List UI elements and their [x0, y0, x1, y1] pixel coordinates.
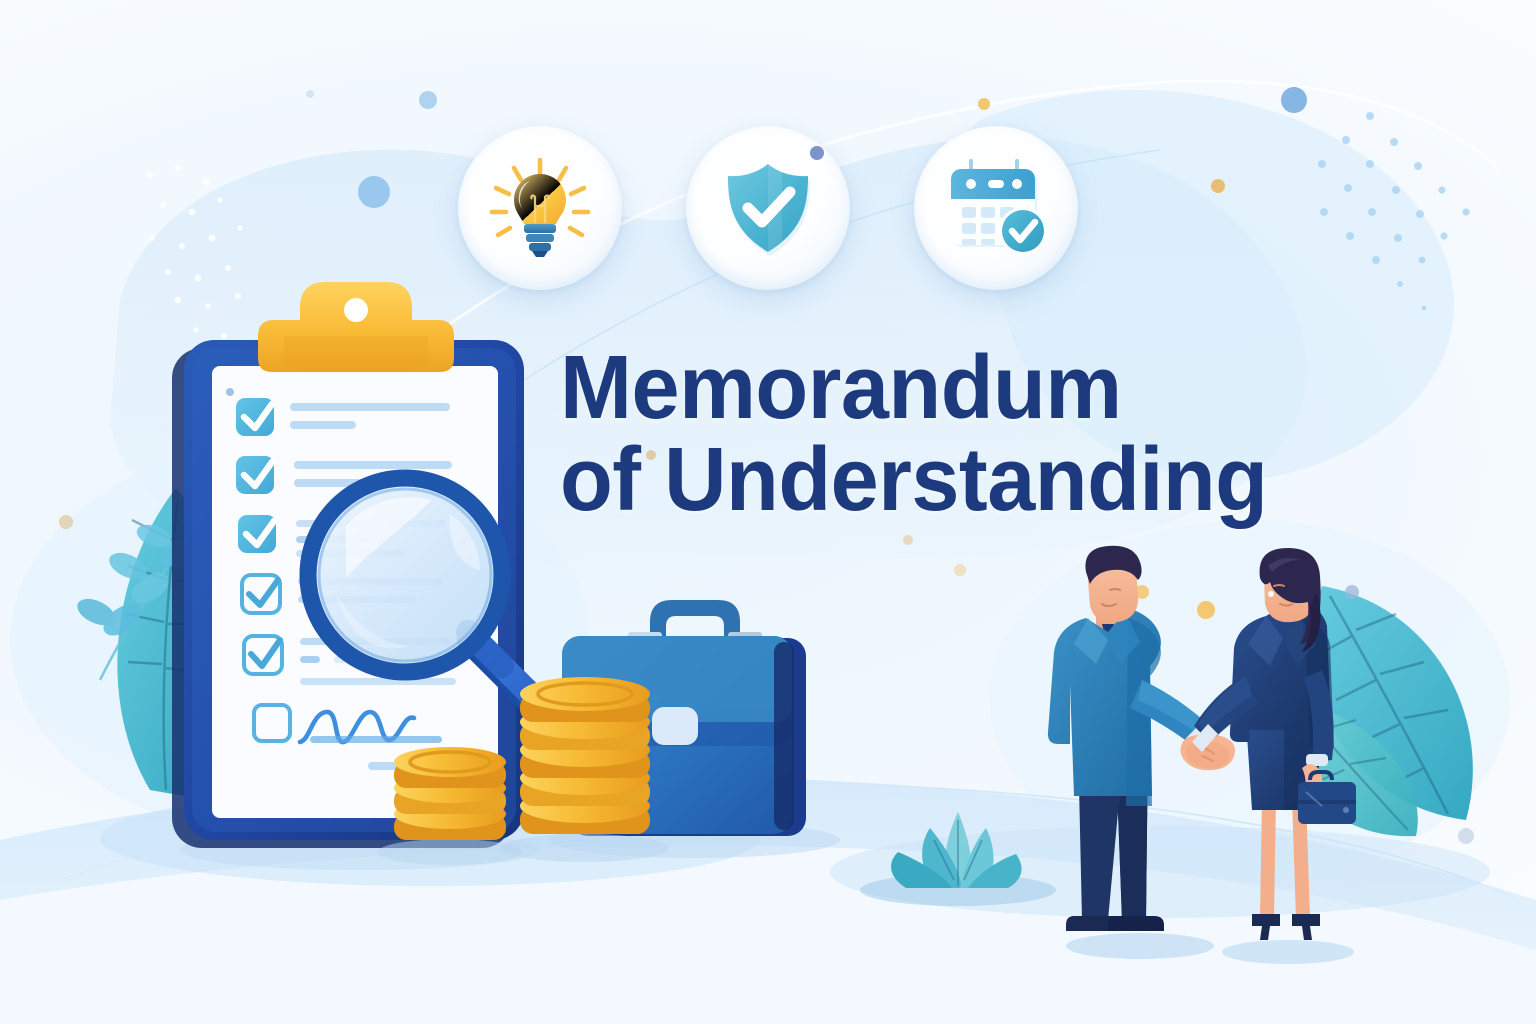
handshake-scene [1030, 548, 1390, 968]
badge-schedule[interactable] [914, 126, 1078, 290]
shield-check-icon [714, 154, 822, 262]
calendar-check-icon [941, 153, 1051, 263]
badge-security[interactable] [686, 126, 850, 290]
shield-accent-dot [810, 146, 824, 160]
lightbulb-icon [486, 154, 594, 262]
document-scene [150, 270, 870, 890]
badge-idea[interactable] [458, 126, 622, 290]
illustration-canvas: Memorandum of Understanding [0, 0, 1536, 1024]
